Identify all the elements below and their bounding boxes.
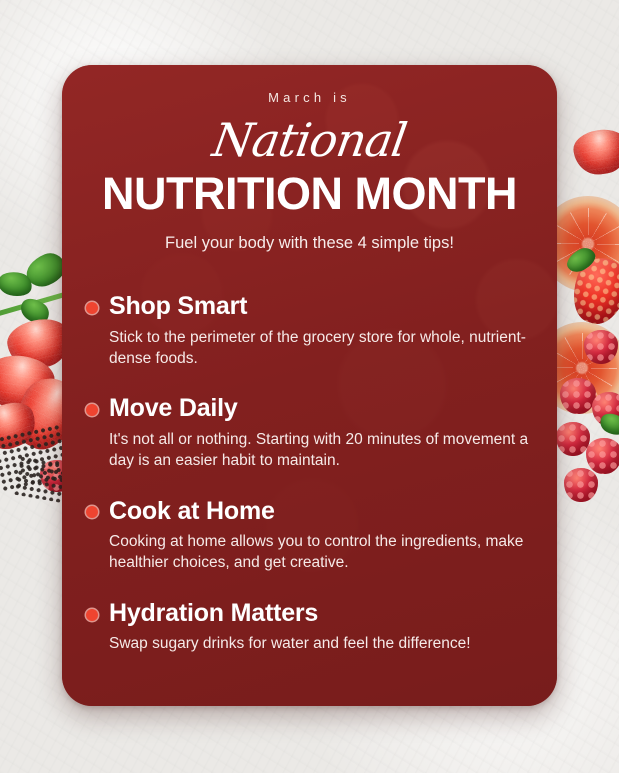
- script-headline: National: [62, 117, 557, 163]
- bullet-dot-icon: [86, 506, 98, 518]
- raspberry-icon: [586, 438, 619, 474]
- bullet-dot-icon: [86, 404, 98, 416]
- tip-title: Move Daily: [109, 395, 238, 423]
- nutrition-month-poster: March is National NUTRITION MONTH Fuel y…: [0, 0, 619, 773]
- list-item: Move Daily It's not all or nothing. Star…: [86, 395, 529, 471]
- tip-title: Hydration Matters: [109, 600, 318, 628]
- list-item: Cook at Home Cooking at home allows you …: [86, 498, 529, 574]
- list-item: Hydration Matters Swap sugary drinks for…: [86, 600, 529, 655]
- raspberry-icon: [556, 422, 590, 456]
- tip-body: Cooking at home allows you to control th…: [109, 531, 529, 574]
- tip-title: Shop Smart: [109, 293, 247, 321]
- kicker-text: March is: [62, 90, 557, 105]
- poster-card: March is National NUTRITION MONTH Fuel y…: [62, 65, 557, 706]
- bullet-dot-icon: [86, 302, 98, 314]
- list-item: Shop Smart Stick to the perimeter of the…: [86, 293, 529, 369]
- tips-list: Shop Smart Stick to the perimeter of the…: [62, 293, 557, 655]
- tip-body: Stick to the perimeter of the grocery st…: [109, 327, 529, 370]
- page-title: NUTRITION MONTH: [62, 171, 557, 216]
- bullet-dot-icon: [86, 609, 98, 621]
- tip-body: It's not all or nothing. Starting with 2…: [109, 429, 529, 472]
- tip-title: Cook at Home: [109, 498, 275, 526]
- subtitle-text: Fuel your body with these 4 simple tips!: [62, 234, 557, 253]
- raspberry-icon: [564, 468, 598, 502]
- strawberry-half-icon: [571, 126, 619, 177]
- tip-body: Swap sugary drinks for water and feel th…: [109, 633, 529, 654]
